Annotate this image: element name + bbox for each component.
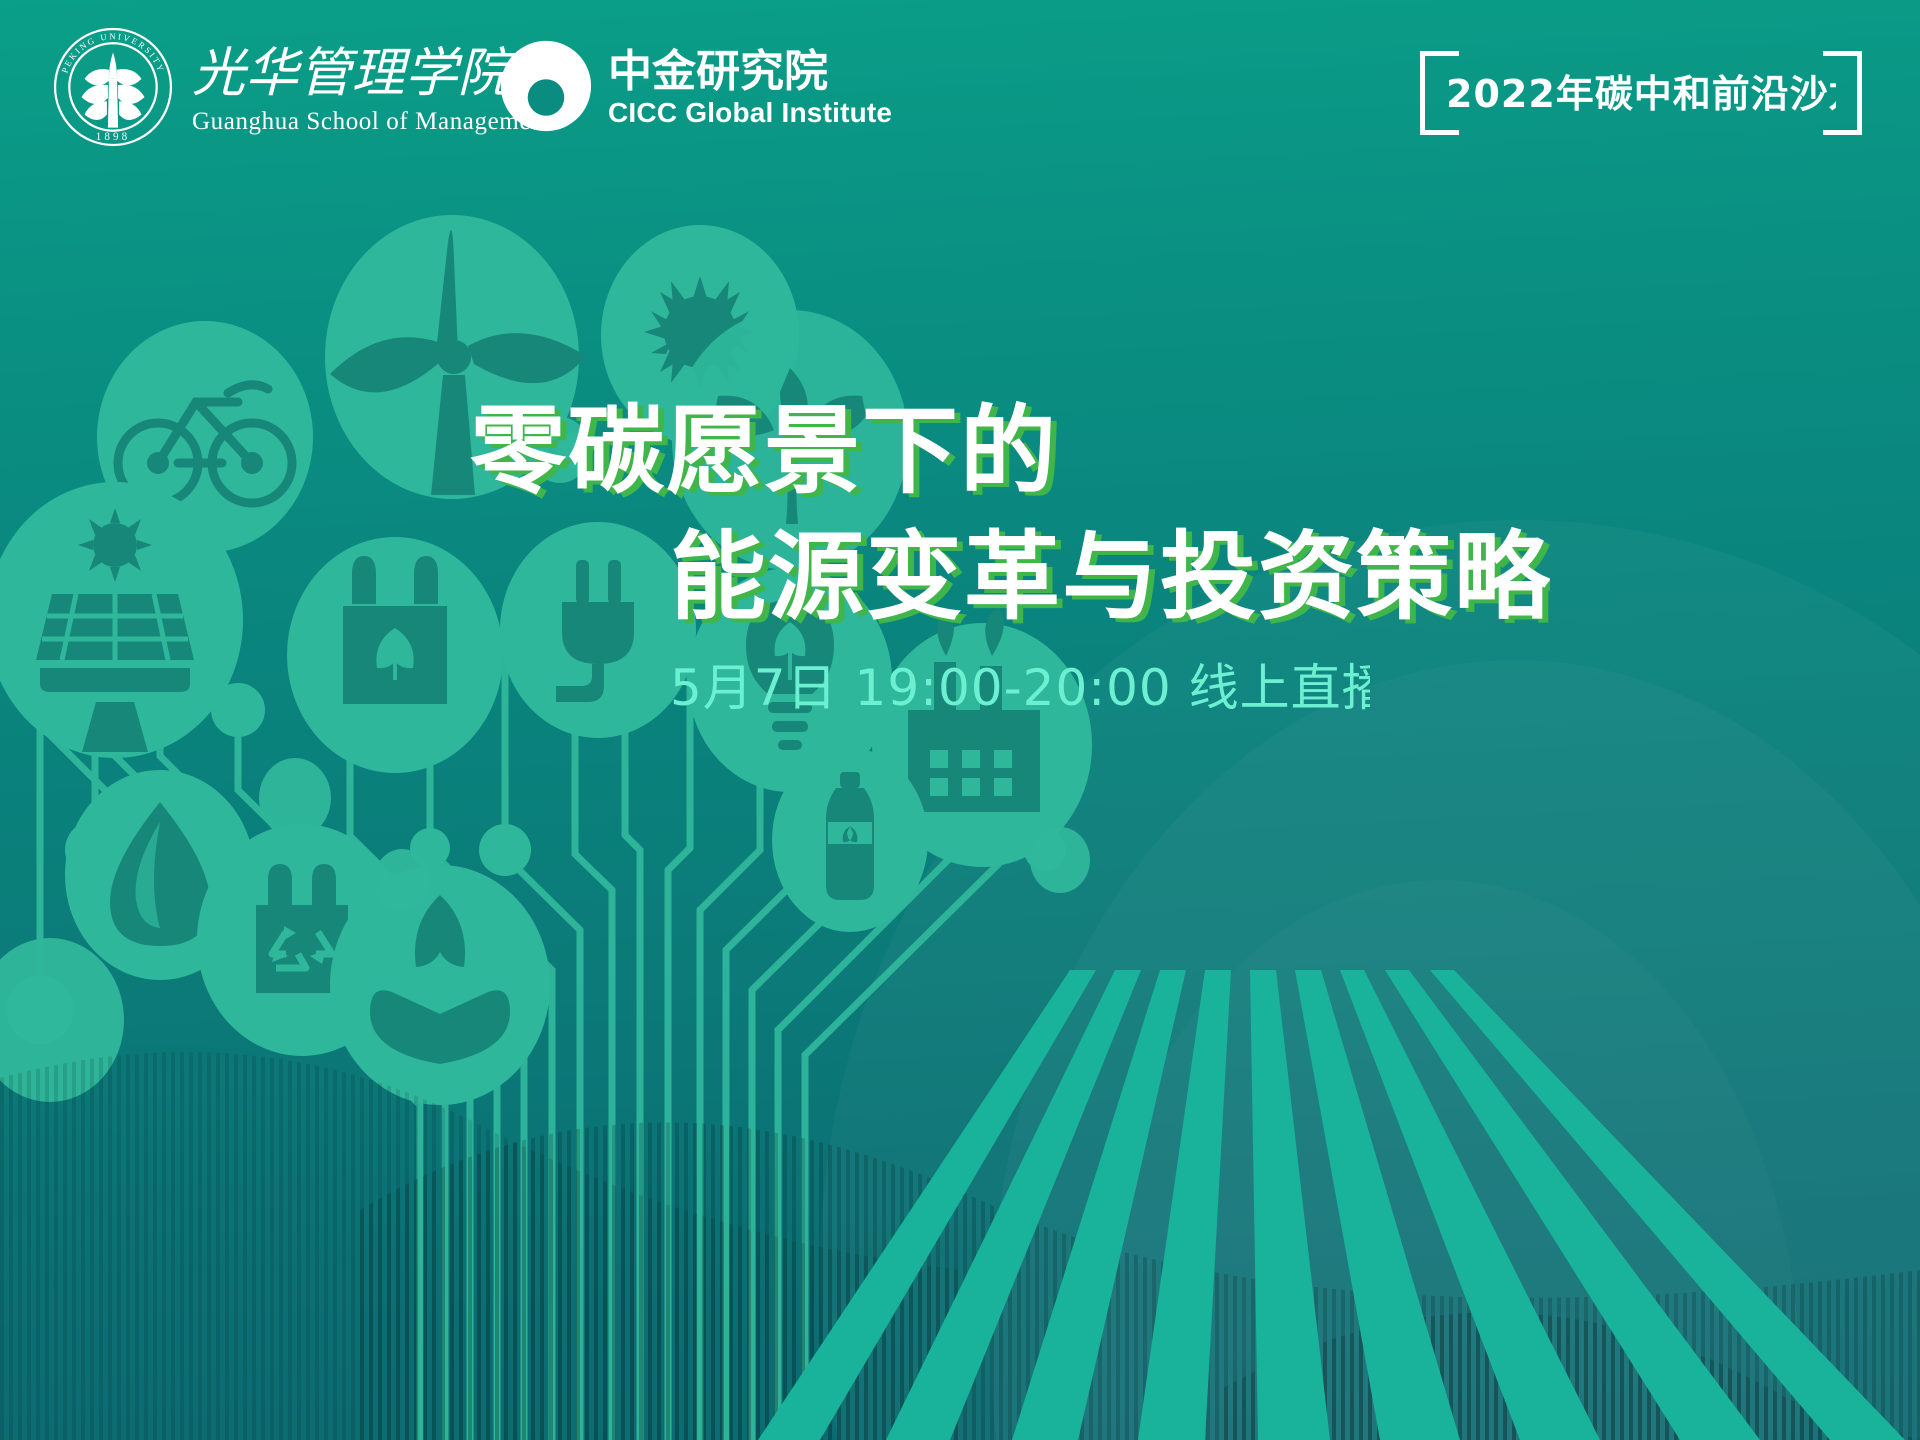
cicc-chinese-name: 中金研究院 [608, 44, 908, 96]
svg-text:5月7日 19:00-20:00 线上直播: 5月7日 19:00-20:00 线上直播 [670, 660, 1370, 716]
cicc-circle-mark-icon [498, 38, 594, 134]
svg-text:2022年碳中和前沿沙龙: 2022年碳中和前沿沙龙 [1446, 72, 1836, 116]
cicc-english-name: CICC Global Institute [608, 97, 908, 129]
poster-canvas: PEKING UNIVERSITY 1898 光华管理学院 [0, 0, 1920, 1440]
title-line-2: 能源变革与投资策略 能源变革与投资策略 [670, 522, 1550, 638]
svg-text:中金研究院: 中金研究院 [608, 46, 828, 96]
event-series-badge-text: 2022年碳中和前沿沙龙 [1446, 70, 1836, 116]
svg-text:能源变革与投资策略: 能源变革与投资策略 [670, 522, 1550, 633]
perspective-trunk-lines [0, 970, 1920, 1440]
svg-text:零碳愿景下的: 零碳愿景下的 [470, 396, 1058, 507]
svg-text:光华管理学院: 光华管理学院 [192, 42, 518, 104]
cicc-logo: 中金研究院 CICC Global Institute [498, 38, 908, 134]
recycle-bottle-icon [772, 748, 928, 932]
poster-header: PEKING UNIVERSITY 1898 光华管理学院 [0, 0, 1920, 170]
event-series-badge: 2022年碳中和前沿沙龙 [1420, 56, 1862, 130]
svg-text:1898: 1898 [96, 131, 131, 143]
poster-copy-block: 零碳愿景下的 零碳愿景下的 能源变革与投资策略 能源变革与投资策略 5月7日 1… [470, 396, 1530, 721]
title-line-1: 零碳愿景下的 零碳愿景下的 [470, 396, 1130, 512]
event-datetime-subtitle: 5月7日 19:00-20:00 线上直播 [670, 660, 1370, 716]
pku-guanghua-logo: PEKING UNIVERSITY 1898 光华管理学院 [52, 26, 575, 148]
peking-university-seal-icon: PEKING UNIVERSITY 1898 [52, 26, 174, 148]
